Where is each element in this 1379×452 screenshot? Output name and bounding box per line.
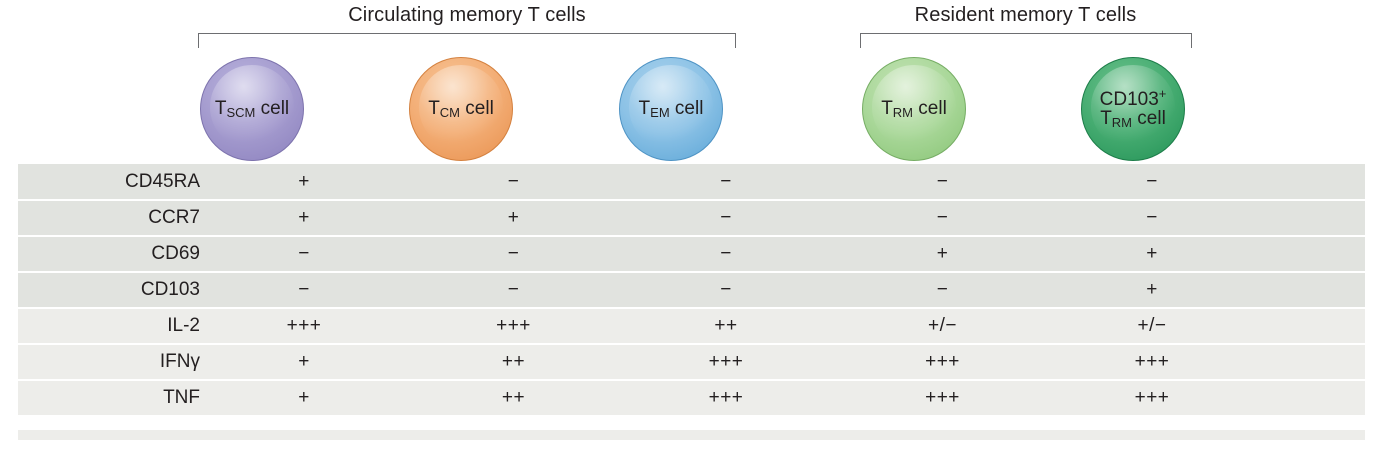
cd103-trm-cell-label: CD103+TRM cell — [1100, 90, 1167, 129]
marker-value-cell: + — [408, 200, 619, 236]
tem-cell-label: TEM cell — [639, 99, 704, 118]
tcm-cell-label: TCM cell — [428, 99, 494, 118]
cd103-trm-cell-icon: CD103+TRM cell — [1081, 57, 1185, 161]
marker-value-cell: + — [200, 164, 408, 200]
trm-cell-label: TRM cell — [881, 99, 947, 118]
table-row-padding — [1252, 164, 1365, 200]
tscm-cell-icon: TSCM cell — [200, 57, 304, 161]
marker-value-cell: + — [1052, 236, 1252, 272]
table-row-padding — [1252, 236, 1365, 272]
marker-value-cell: + — [1052, 272, 1252, 308]
marker-value-cell: − — [619, 200, 833, 236]
marker-value-cell: +++ — [619, 344, 833, 380]
marker-value-cell: − — [408, 272, 619, 308]
marker-value-cell: ++ — [408, 344, 619, 380]
table-row: IFNγ++++++++++++ — [18, 344, 1365, 380]
marker-name-cell: CD103 — [18, 272, 200, 308]
marker-name-cell: IFNγ — [18, 344, 200, 380]
group-header-resident-memory: Resident memory T cells — [860, 4, 1191, 27]
marker-value-cell: + — [200, 344, 408, 380]
tem-cell-icon: TEM cell — [619, 57, 723, 161]
tscm-cell-label: TSCM cell — [215, 99, 289, 118]
marker-value-cell: − — [408, 236, 619, 272]
marker-value-cell: − — [619, 272, 833, 308]
table-row: CD103−−−−+ — [18, 272, 1365, 308]
marker-value-cell: − — [833, 200, 1052, 236]
marker-value-cell: + — [200, 380, 408, 416]
table-bottom-spacer — [18, 430, 1365, 440]
marker-value-cell: − — [200, 272, 408, 308]
table-row-padding — [1252, 344, 1365, 380]
trm-cell-icon: TRM cell — [862, 57, 966, 161]
marker-value-cell: +++ — [1052, 380, 1252, 416]
t-cell-memory-subsets-figure: Circulating memory T cells Resident memo… — [0, 0, 1379, 452]
marker-value-cell: +++ — [1052, 344, 1252, 380]
marker-value-cell: + — [200, 200, 408, 236]
marker-expression-table: CD45RA+−−−−CCR7++−−−CD69−−−++CD103−−−−+I… — [18, 164, 1365, 417]
table-row-padding — [1252, 380, 1365, 416]
marker-name-cell: CD45RA — [18, 164, 200, 200]
group-bracket-circulating-memory — [198, 33, 736, 48]
marker-value-cell: ++ — [408, 380, 619, 416]
marker-value-cell: − — [1052, 164, 1252, 200]
marker-value-cell: − — [1052, 200, 1252, 236]
table-row: CD69−−−++ — [18, 236, 1365, 272]
marker-value-cell: − — [200, 236, 408, 272]
tcm-cell-icon: TCM cell — [409, 57, 513, 161]
table-row: TNF++++++++++++ — [18, 380, 1365, 416]
marker-name-cell: IL-2 — [18, 308, 200, 344]
marker-value-cell: +/− — [833, 308, 1052, 344]
table-row-padding — [1252, 200, 1365, 236]
marker-value-cell: +++ — [200, 308, 408, 344]
table-row-padding — [1252, 272, 1365, 308]
marker-name-cell: CD69 — [18, 236, 200, 272]
marker-name-cell: TNF — [18, 380, 200, 416]
marker-value-cell: ++ — [619, 308, 833, 344]
marker-value-cell: − — [408, 164, 619, 200]
marker-value-cell: − — [619, 164, 833, 200]
table-row: IL-2+++++++++/−+/− — [18, 308, 1365, 344]
table-row: CD45RA+−−−− — [18, 164, 1365, 200]
marker-value-cell: − — [833, 272, 1052, 308]
marker-value-cell: +++ — [833, 344, 1052, 380]
table-row-padding — [1252, 308, 1365, 344]
marker-value-cell: +/− — [1052, 308, 1252, 344]
marker-value-cell: + — [833, 236, 1052, 272]
marker-value-cell: +++ — [408, 308, 619, 344]
group-bracket-resident-memory — [860, 33, 1192, 48]
group-header-circulating-memory: Circulating memory T cells — [198, 4, 736, 27]
marker-value-cell: +++ — [619, 380, 833, 416]
marker-value-cell: − — [619, 236, 833, 272]
marker-value-cell: − — [833, 164, 1052, 200]
table-row: CCR7++−−− — [18, 200, 1365, 236]
marker-value-cell: +++ — [833, 380, 1052, 416]
marker-name-cell: CCR7 — [18, 200, 200, 236]
